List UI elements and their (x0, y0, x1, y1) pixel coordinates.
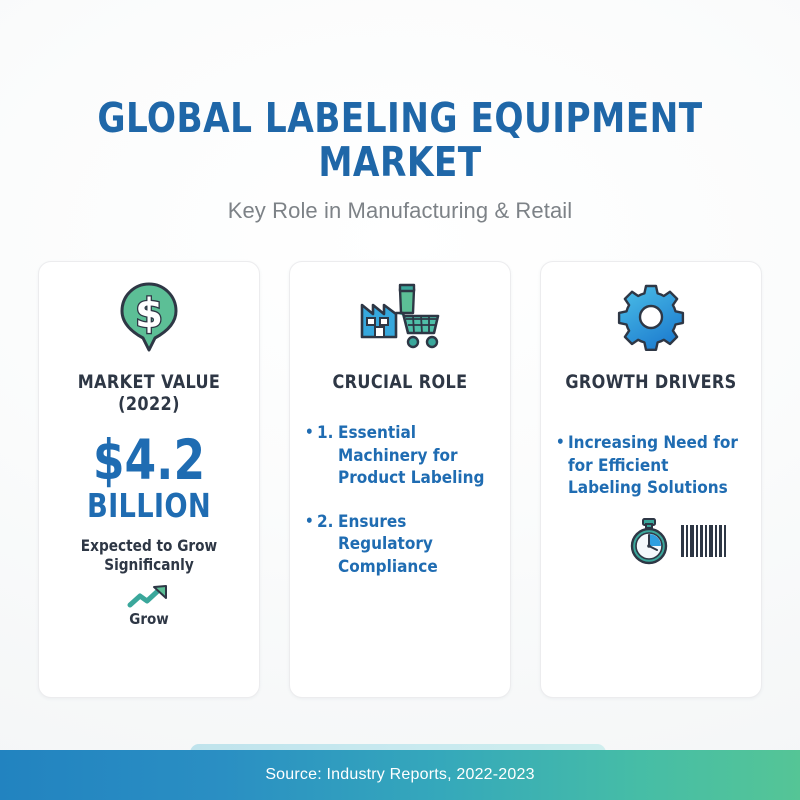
dollar-pin-icon: $ (39, 262, 259, 354)
bullet-number: 2. (317, 511, 338, 533)
bullet-list: • 1. Essential Machinery for Product Lab… (290, 393, 510, 578)
card-market-value: $ MARKET VALUE(2022) $4.2 BILLION Expect… (38, 261, 260, 698)
card-crucial-role: CRUCIAL ROLE • 1. Essential Machinery fo… (289, 261, 511, 698)
card-growth-drivers: GROWTH DRIVERS • Increasing Need for for… (540, 261, 762, 698)
stat-value: $4.2 (48, 434, 250, 486)
stat-note: Expected to Grow Significanly (45, 523, 254, 574)
bullet-text: Ensures Regulatory Compliance (338, 511, 496, 578)
header: GLOBAL LABELING EQUIPMENT MARKET Key Rol… (0, 0, 800, 224)
page-title: GLOBAL LABELING EQUIPMENT MARKET (28, 0, 772, 185)
stat-block: $4.2 BILLION Expected to Grow Significan… (39, 416, 259, 574)
list-item: • 2. Ensures Regulatory Compliance (305, 511, 496, 578)
barcode-icon (679, 521, 729, 561)
svg-text:$: $ (135, 291, 163, 337)
footer-bar: Source: Industry Reports, 2022-2023 (0, 750, 800, 800)
bullet-dot-icon: • (556, 432, 568, 453)
bullet-text: Increasing Need for for Efficient Labeli… (568, 432, 747, 499)
card-heading: CRUCIAL ROLE (297, 354, 504, 393)
card-heading: MARKET VALUE(2022) (46, 354, 253, 416)
bullet-dot-icon: • (305, 511, 317, 532)
card-footer-icons (541, 517, 761, 565)
growth-arrow-icon (126, 583, 172, 609)
grow-label: Grow (39, 610, 259, 628)
card-subheading: (2022) (46, 393, 253, 415)
card-heading-text: MARKET VALUE (78, 371, 221, 393)
grow-indicator: Grow (39, 574, 259, 628)
list-item: • 1. Essential Machinery for Product Lab… (305, 422, 496, 489)
card-row: $ MARKET VALUE(2022) $4.2 BILLION Expect… (38, 261, 762, 698)
gear-icon (541, 262, 761, 354)
source-text: Source: Industry Reports, 2022-2023 (265, 766, 534, 784)
bullet-dot-icon: • (305, 422, 317, 443)
bullet-list: • Increasing Need for for Efficient Labe… (541, 393, 761, 499)
stopwatch-icon (626, 517, 672, 565)
card-heading: GROWTH DRIVERS (548, 354, 755, 393)
list-item: • Increasing Need for for Efficient Labe… (556, 432, 747, 499)
bullet-text: Essential Machinery for Product Labeling (338, 422, 496, 489)
factory-cart-icon (290, 262, 510, 354)
bullet-number: 1. (317, 422, 338, 444)
infographic-poster: GLOBAL LABELING EQUIPMENT MARKET Key Rol… (0, 0, 800, 800)
page-subtitle: Key Role in Manufacturing & Retail (0, 185, 800, 224)
stat-unit: BILLION (48, 486, 250, 523)
